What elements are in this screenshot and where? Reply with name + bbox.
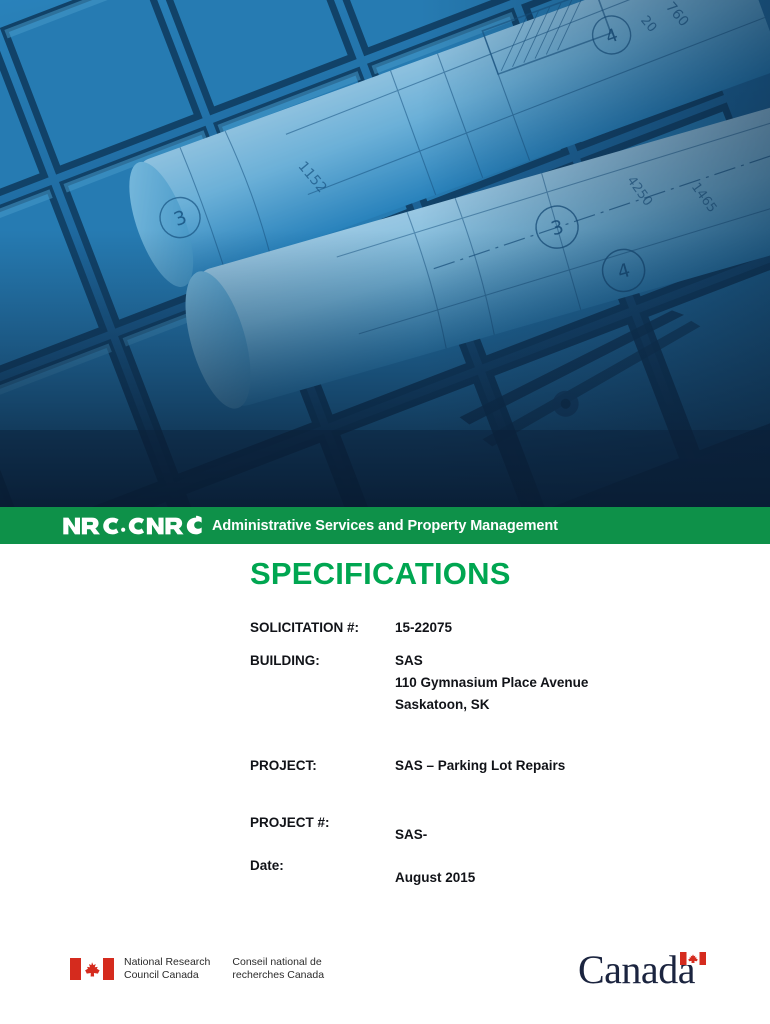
project-number-value: SAS- <box>395 827 427 842</box>
field-building: BUILDING: SAS 110 Gymnasium Place Avenue… <box>250 653 720 712</box>
hero-image: 3 4 1152 760 20 <box>0 0 770 507</box>
nrc-name-en-line2: Council Canada <box>124 969 210 982</box>
nrc-name-en-line1: National Research <box>124 956 210 969</box>
building-street: 110 Gymnasium Place Avenue <box>395 675 588 690</box>
date-label: Date: <box>250 858 395 873</box>
nrc-name-en: National Research Council Canada <box>124 956 210 981</box>
date-value-group: August 2015 <box>395 858 475 885</box>
page-title: SPECIFICATIONS <box>250 556 511 592</box>
document-details: SOLICITATION #: 15-22075 BUILDING: SAS 1… <box>250 620 720 885</box>
project-value-group: SAS – Parking Lot Repairs <box>395 758 565 773</box>
project-number-label: PROJECT #: <box>250 815 395 830</box>
canada-wordmark: Canada <box>578 948 708 992</box>
date-value: August 2015 <box>395 870 475 885</box>
brand-banner: Administrative Services and Property Man… <box>0 507 770 544</box>
field-project-number: PROJECT #: SAS- <box>250 815 720 842</box>
solicitation-value-group: 15-22075 <box>395 620 452 635</box>
field-solicitation: SOLICITATION #: 15-22075 <box>250 620 720 635</box>
page-footer: National Research Council Canada Conseil… <box>0 940 770 1000</box>
field-date: Date: August 2015 <box>250 858 720 885</box>
nrc-signature: National Research Council Canada Conseil… <box>70 956 324 981</box>
nrc-name-fr-line1: Conseil national de <box>232 956 324 969</box>
hero-illustration: 3 4 1152 760 20 <box>0 0 770 507</box>
building-name: SAS <box>395 653 588 668</box>
building-label: BUILDING: <box>250 653 395 668</box>
project-number-value-group: SAS- <box>395 815 427 842</box>
nrc-name-fr-line2: recherches Canada <box>232 969 324 982</box>
building-value-group: SAS 110 Gymnasium Place Avenue Saskatoon… <box>395 653 588 712</box>
solicitation-value: 15-22075 <box>395 620 452 635</box>
banner-subtitle: Administrative Services and Property Man… <box>212 518 558 534</box>
field-project: PROJECT: SAS – Parking Lot Repairs <box>250 758 720 773</box>
solicitation-label: SOLICITATION #: <box>250 620 395 635</box>
project-value: SAS – Parking Lot Repairs <box>395 758 565 773</box>
building-city: Saskatoon, SK <box>395 697 588 712</box>
nrc-cnrc-logo <box>62 513 202 539</box>
canada-wordmark-flag-icon <box>680 952 706 965</box>
project-label: PROJECT: <box>250 758 395 773</box>
nrc-name-fr: Conseil national de recherches Canada <box>232 956 324 981</box>
nrc-wordmark-text: National Research Council Canada Conseil… <box>124 956 324 981</box>
canada-flag-icon <box>70 957 114 981</box>
